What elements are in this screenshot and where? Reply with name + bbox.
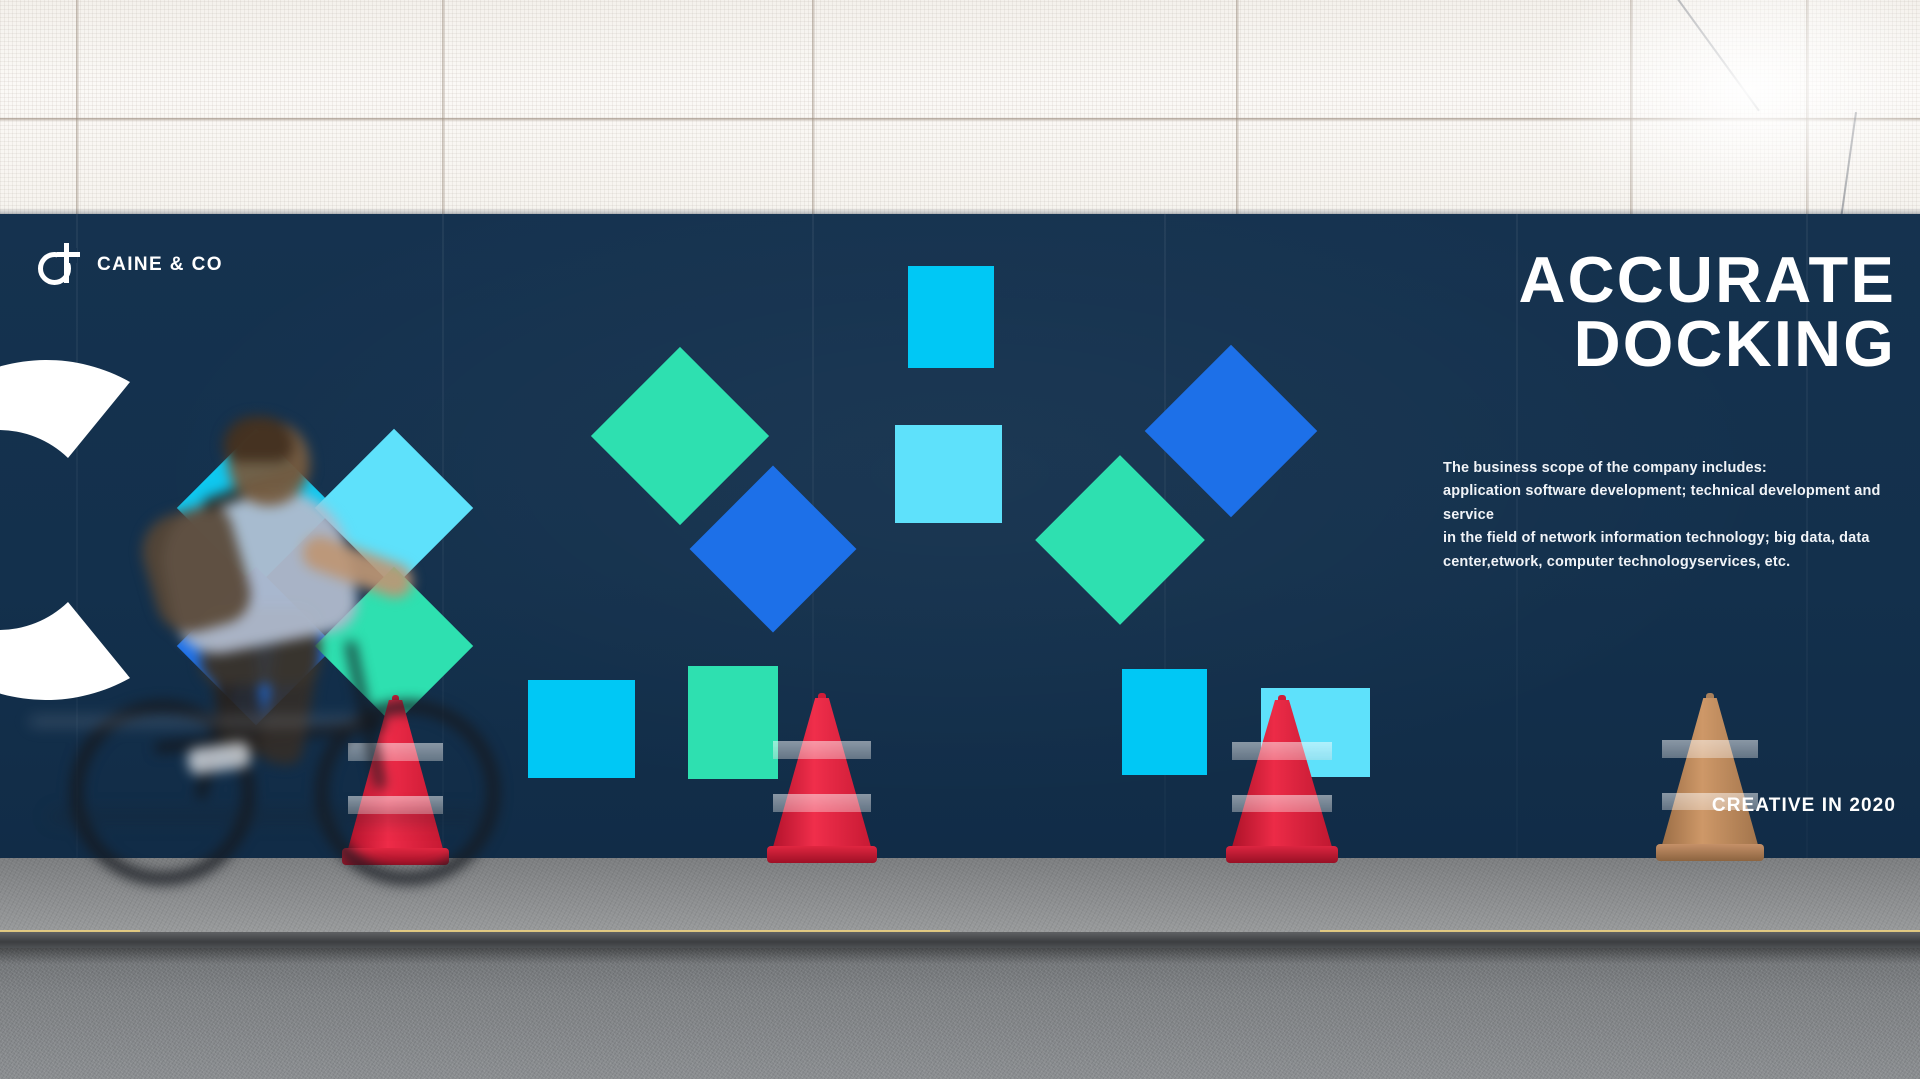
motion-streak xyxy=(30,718,360,725)
body-copy: The business scope of the company includ… xyxy=(1443,457,1913,574)
wall-vertical-seam xyxy=(1236,0,1239,218)
wall-light-glare xyxy=(1540,0,1920,218)
cyan-square-bottom-right xyxy=(1122,669,1207,775)
body-copy-line: application software development; techni… xyxy=(1443,480,1913,527)
body-copy-line: The business scope of the company includ… xyxy=(1443,457,1913,480)
brand-lockup: CAINE & CO xyxy=(38,243,223,287)
wall-vertical-seam xyxy=(442,0,445,218)
road-edge-shadow xyxy=(0,948,1920,964)
road-texture xyxy=(0,948,1920,1079)
traffic-cone-3 xyxy=(1232,700,1332,863)
tagline: CREATIVE IN 2020 xyxy=(1712,795,1896,817)
blurred-cyclist xyxy=(60,400,530,900)
headline-line-2: DOCKING xyxy=(1519,312,1896,376)
circle-cross-logo-icon xyxy=(38,243,82,287)
motion-streak xyxy=(50,812,480,821)
traffic-cone-2 xyxy=(773,698,871,863)
mint-square-bottom xyxy=(688,666,778,779)
white-panel-wall xyxy=(0,0,1920,218)
wall-vertical-seam xyxy=(812,0,815,218)
page-title: ACCURATE DOCKING xyxy=(1519,248,1896,377)
body-copy-line: center,etwork, computer technologyservic… xyxy=(1443,551,1913,574)
cyan-square-top xyxy=(908,266,994,368)
traffic-cone-4 xyxy=(1662,698,1758,861)
body-copy-line: in the field of network information tech… xyxy=(1443,527,1913,550)
asphalt-road xyxy=(0,948,1920,1079)
headline-line-1: ACCURATE xyxy=(1519,243,1896,316)
cyan-square-bottom-left xyxy=(528,680,635,778)
cyclist-hair xyxy=(223,416,293,462)
brand-name: CAINE & CO xyxy=(97,254,223,276)
light-cyan-square-mid xyxy=(895,425,1002,523)
wall-vertical-seam xyxy=(76,0,79,218)
billboard-mockup-scene: CAINE & CO ACCURATE DOCKING The business… xyxy=(0,0,1920,1079)
